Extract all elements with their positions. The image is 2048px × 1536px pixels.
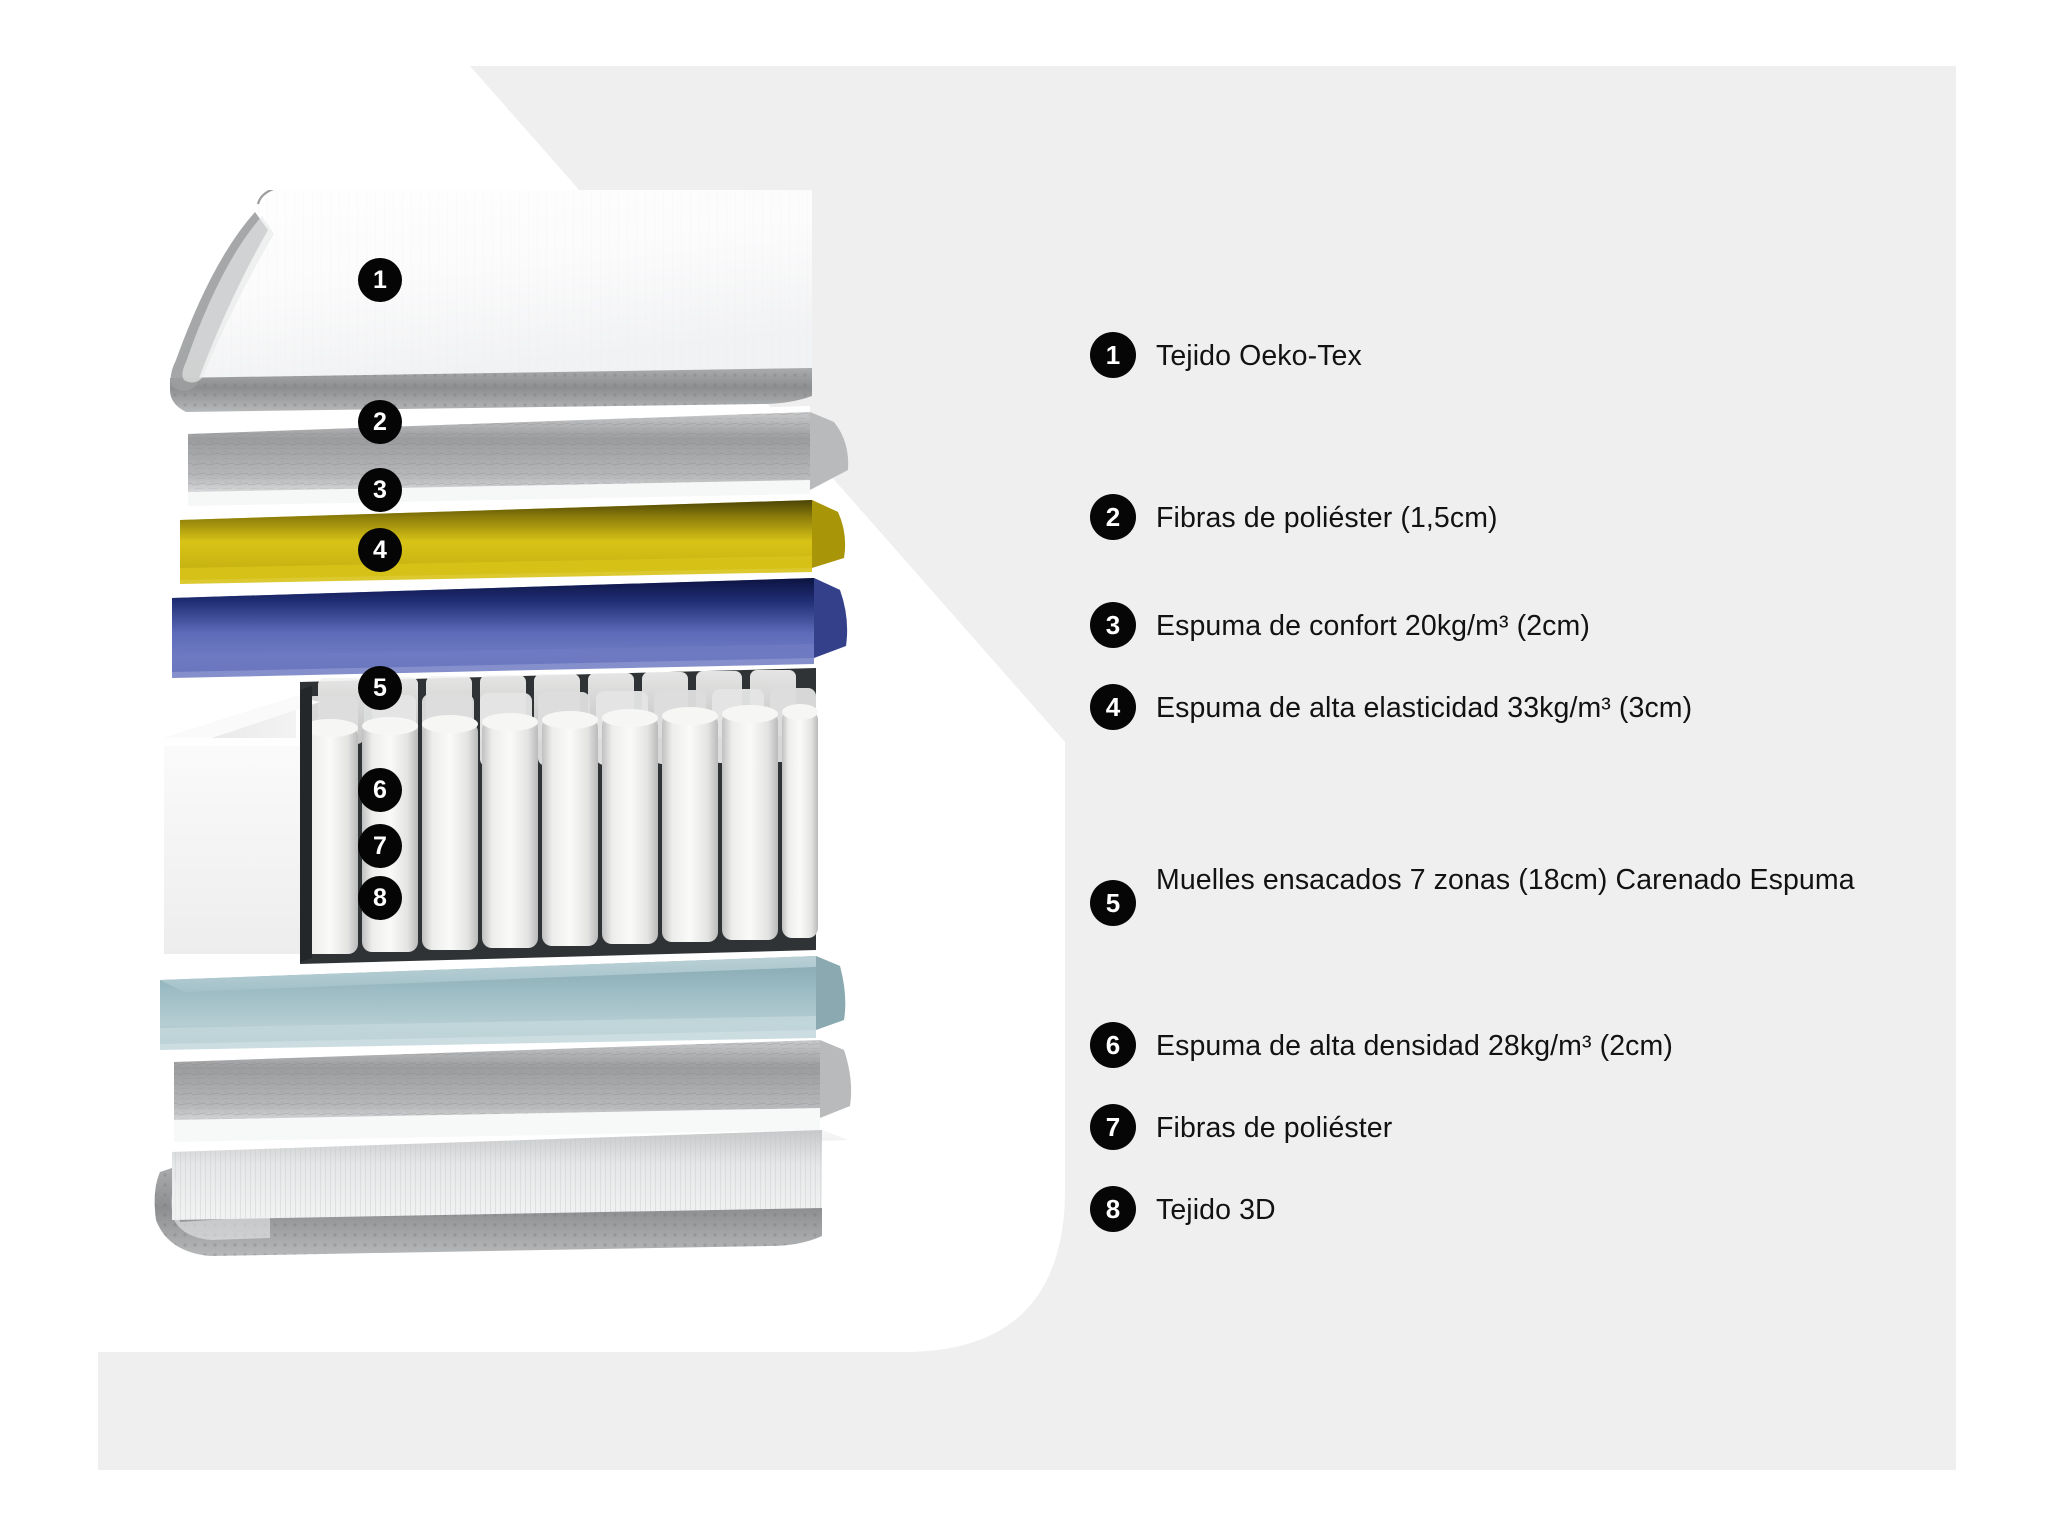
legend-badge-5: 5 [1090, 880, 1136, 926]
layer-3-espuma-de-confort [180, 500, 845, 584]
legend-label-2: Fibras de poliéster (1,5cm) [1156, 492, 1498, 538]
foam-surround-block [164, 696, 320, 954]
diagram-badge-4[interactable]: 4 [358, 528, 402, 572]
layer-2-fibras-de-poliester [188, 406, 848, 506]
layer-6-espuma-alta-densidad [160, 956, 845, 1050]
diagram-stage: 1 2 3 4 5 6 7 8 1 Tejido Oeko-Tex 2 Fibr… [0, 0, 2048, 1536]
legend-item-6[interactable]: 6 Espuma de alta densidad 28kg/m³ (2cm) [1090, 1020, 1673, 1068]
legend-item-8[interactable]: 8 Tejido 3D [1090, 1184, 1276, 1232]
legend-label-4: Espuma de alta elasticidad 33kg/m³ (3cm) [1156, 682, 1692, 728]
diagram-badge-8[interactable]: 8 [358, 876, 402, 920]
legend-item-3[interactable]: 3 Espuma de confort 20kg/m³ (2cm) [1090, 600, 1590, 648]
diagram-badge-2[interactable]: 2 [358, 400, 402, 444]
legend-item-7[interactable]: 7 Fibras de poliéster [1090, 1102, 1392, 1150]
legend-badge-2: 2 [1090, 494, 1136, 540]
mattress-exploded-diagram [150, 190, 1090, 1270]
diagram-badge-6[interactable]: 6 [358, 768, 402, 812]
legend-item-2[interactable]: 2 Fibras de poliéster (1,5cm) [1090, 492, 1498, 540]
legend-badge-3: 3 [1090, 602, 1136, 648]
diagram-badge-3[interactable]: 3 [358, 468, 402, 512]
layer-5-muelles-ensacados [164, 668, 818, 964]
legend-badge-6: 6 [1090, 1022, 1136, 1068]
legend-badge-8: 8 [1090, 1186, 1136, 1232]
diagram-badge-5[interactable]: 5 [358, 666, 402, 710]
legend-label-8: Tejido 3D [1156, 1184, 1276, 1230]
layer-8-tejido-3d [155, 1130, 848, 1256]
legend-badge-4: 4 [1090, 684, 1136, 730]
legend-label-3: Espuma de confort 20kg/m³ (2cm) [1156, 600, 1590, 646]
layer-7-fibras-de-poliester [174, 1040, 851, 1142]
legend-label-6: Espuma de alta densidad 28kg/m³ (2cm) [1156, 1020, 1673, 1066]
legend-badge-1: 1 [1090, 332, 1136, 378]
layer-1-tejido-oeko-tex [170, 190, 812, 412]
legend-label-1: Tejido Oeko-Tex [1156, 330, 1362, 376]
diagram-badge-7[interactable]: 7 [358, 824, 402, 868]
layer-4-espuma-alta-elasticidad [172, 578, 847, 678]
legend-label-7: Fibras de poliéster [1156, 1102, 1392, 1148]
legend-item-5[interactable]: 5 Muelles ensacados 7 zonas (18cm) Caren… [1090, 854, 1855, 926]
legend-item-1[interactable]: 1 Tejido Oeko-Tex [1090, 330, 1362, 378]
diagram-badge-1[interactable]: 1 [358, 258, 402, 302]
legend-item-4[interactable]: 4 Espuma de alta elasticidad 33kg/m³ (3c… [1090, 682, 1692, 730]
legend-badge-7: 7 [1090, 1104, 1136, 1150]
legend-label-5: Muelles ensacados 7 zonas (18cm) Carenad… [1156, 854, 1855, 900]
